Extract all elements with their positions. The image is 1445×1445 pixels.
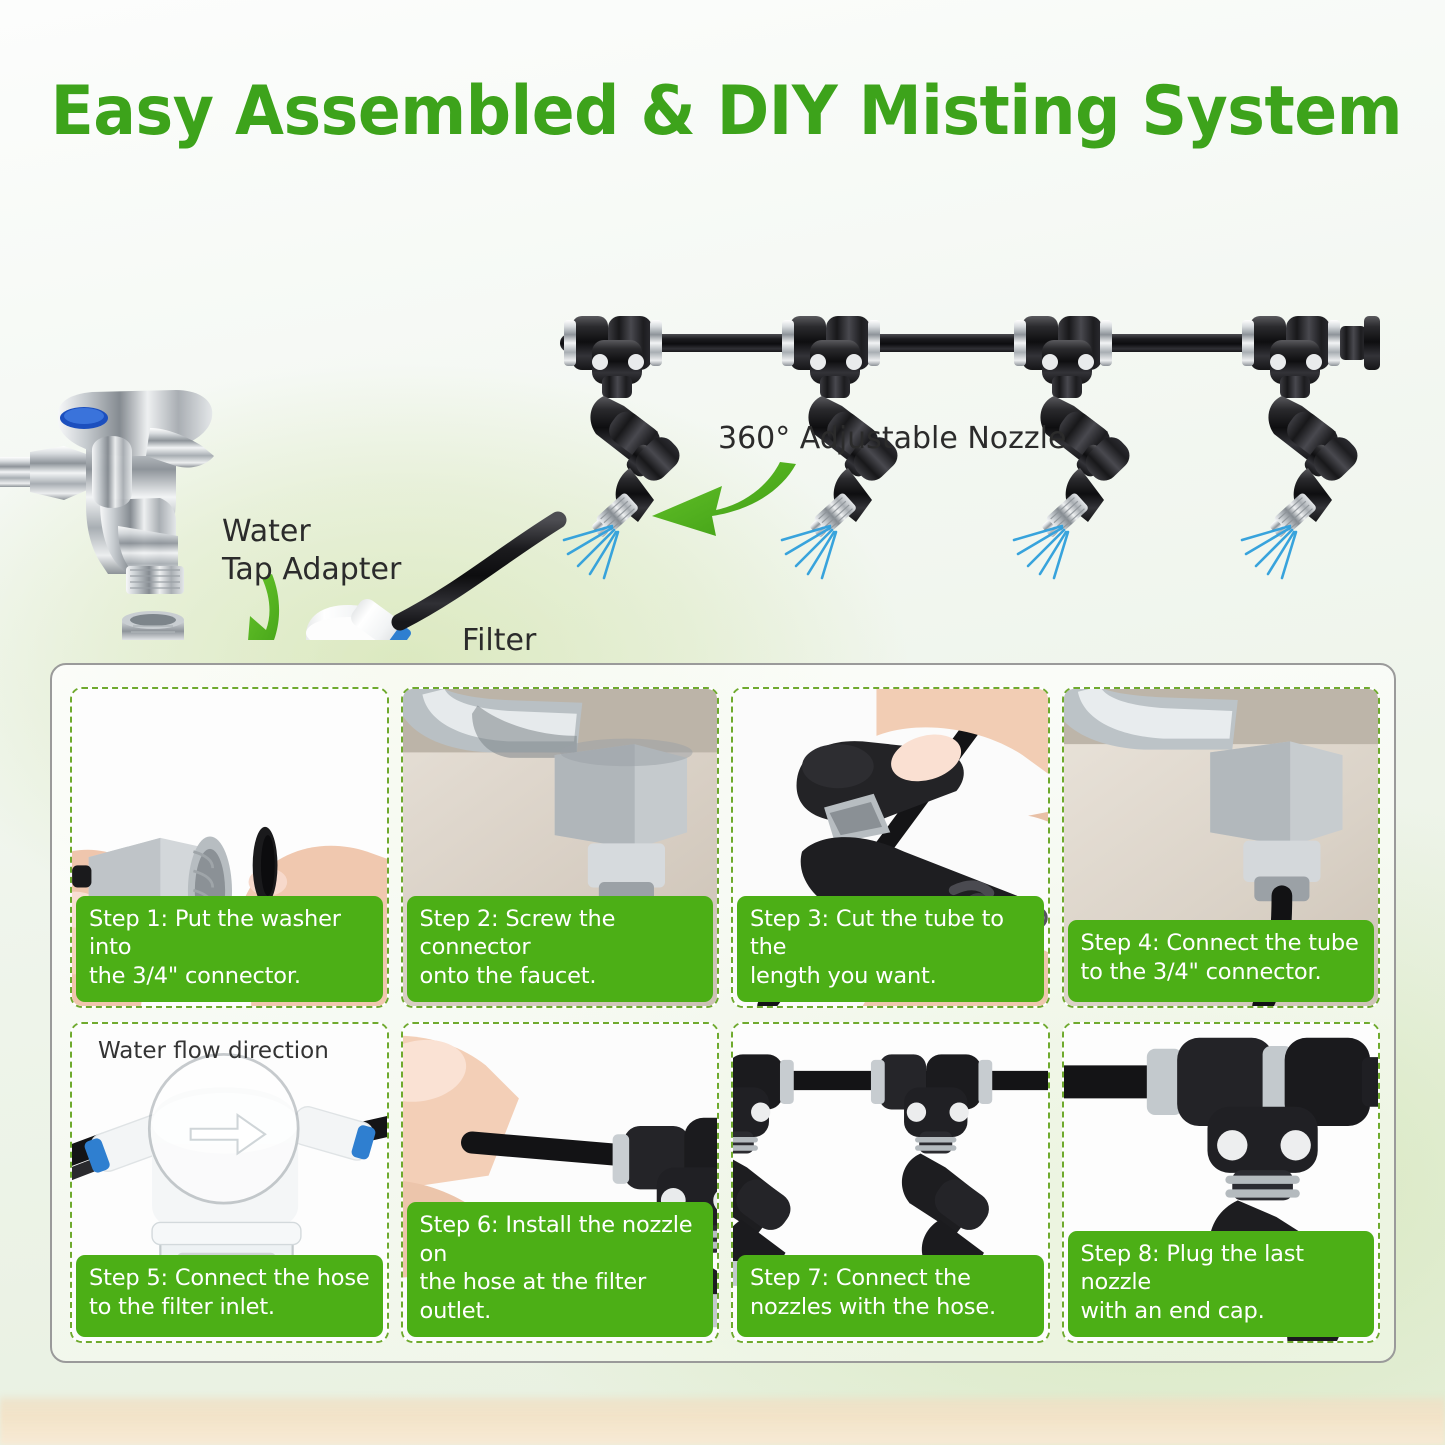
steps-grid: Step 1: Put the washer into the 3/4" con…: [70, 687, 1380, 1343]
step-card-5[interactable]: Water flow direction: [70, 1022, 389, 1343]
step-caption-7: Step 7: Connect the nozzles with the hos…: [737, 1255, 1044, 1337]
step-caption-1: Step 1: Put the washer into the 3/4" con…: [76, 896, 383, 1002]
water-flow-direction-note: Water flow direction: [98, 1038, 329, 1064]
step-caption-6: Step 6: Install the nozzle on the hose a…: [407, 1202, 714, 1337]
step-card-7[interactable]: Step 7: Connect the nozzles with the hos…: [731, 1022, 1050, 1343]
page-title: Easy Assembled & DIY Misting System: [51, 72, 1395, 151]
label-360-adjustable-nozzle: 360° Adjustable Nozzle: [718, 420, 1066, 458]
step-card-2[interactable]: Step 2: Screw the connector onto the fau…: [401, 687, 720, 1008]
end-cap-part: [1340, 316, 1380, 370]
step-caption-2: Step 2: Screw the connector onto the fau…: [407, 896, 714, 1002]
step-caption-4: Step 4: Connect the tube to the 3/4" con…: [1068, 920, 1375, 1002]
product-infographic: Easy Assembled & DIY Misting System: [0, 0, 1445, 1445]
step-caption-5: Step 5: Connect the hose to the filter i…: [76, 1255, 383, 1337]
system-diagram: 360° Adjustable Nozzle Water Tap Adapter…: [0, 170, 1445, 640]
assembly-steps-panel: Step 1: Put the washer into the 3/4" con…: [50, 663, 1396, 1363]
step-card-8[interactable]: Step 8: Plug the last nozzle with an end…: [1062, 1022, 1381, 1343]
label-filter: Filter: [462, 622, 536, 660]
callout-arrow-nozzle: [652, 462, 796, 536]
step-caption-3: Step 3: Cut the tube to the length you w…: [737, 896, 1044, 1002]
step-card-1[interactable]: Step 1: Put the washer into the 3/4" con…: [70, 687, 389, 1008]
step-card-3[interactable]: Step 3: Cut the tube to the length you w…: [731, 687, 1050, 1008]
filter-part: [265, 595, 414, 640]
label-water-tap-adapter: Water Tap Adapter: [222, 513, 401, 590]
faucet-illustration: [0, 390, 214, 594]
step-caption-8: Step 8: Plug the last nozzle with an end…: [1068, 1231, 1375, 1337]
wood-surface-backdrop: [0, 1393, 1445, 1445]
step-card-6[interactable]: Step 6: Install the nozzle on the hose a…: [401, 1022, 720, 1343]
step-card-4[interactable]: Step 4: Connect the tube to the 3/4" con…: [1062, 687, 1381, 1008]
